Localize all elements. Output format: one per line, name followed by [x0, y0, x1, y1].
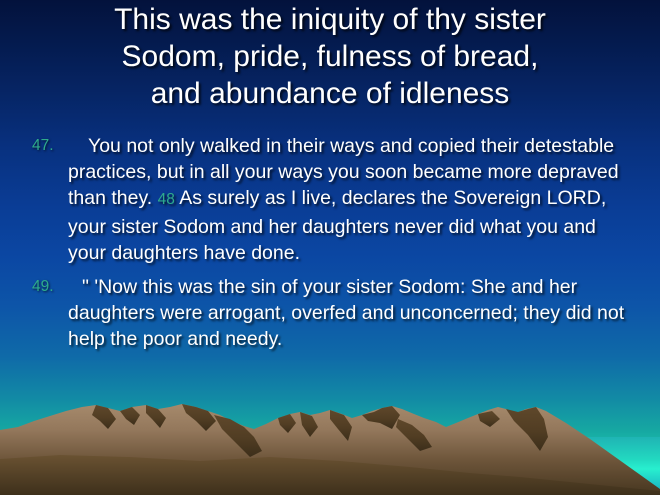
horizon-glow-band [430, 437, 660, 495]
mountain-shadow-facet-12 [506, 407, 548, 451]
verse-number-49: 49. [32, 279, 54, 295]
slide-canvas: This was the iniquity of thy sister Sodo… [0, 0, 660, 495]
verse-paragraph-49: 49. " 'Now this was the sin of your sist… [28, 274, 634, 353]
mountain-landscape-graphic [0, 385, 660, 495]
mountain-shadow-facet-5 [278, 414, 296, 433]
title-line-1: This was the iniquity of thy sister [0, 1, 660, 38]
mountain-shadow-facet-9 [362, 406, 400, 429]
verse-text-49: " 'Now this was the sin of your sister S… [68, 274, 634, 353]
mountain-shadow-facet-2 [120, 407, 140, 425]
slide-title: This was the iniquity of thy sister Sodo… [0, 1, 660, 112]
mountain-shadow-facet-11 [478, 411, 500, 427]
title-line-2: Sodom, pride, fulness of bread, [0, 38, 660, 75]
slide-body: 47. You not only walked in their ways an… [28, 133, 634, 357]
verse-number-47: 47. [32, 138, 54, 154]
mountain-shadow-facet-6 [214, 415, 262, 457]
mountain-shadow-facet-1 [92, 405, 116, 429]
title-line-3: and abundance of idleness [0, 75, 660, 112]
verse-paragraph-47: 47. You not only walked in their ways an… [28, 133, 634, 266]
mountain-shadow-facet-3 [146, 405, 166, 428]
mountain-shadow-facet-4 [182, 404, 216, 431]
mountain-shadow-facet-10 [396, 419, 432, 451]
mountain-shadow-facet-8 [330, 410, 352, 441]
verse-number-48-inline: 48 [158, 191, 175, 208]
mountain-shadow-facet-7 [300, 412, 318, 437]
mountain-foreground-base [0, 455, 660, 495]
mountain-ridge-main [0, 404, 660, 495]
verse-text-47: You not only walked in their ways and co… [68, 133, 634, 266]
